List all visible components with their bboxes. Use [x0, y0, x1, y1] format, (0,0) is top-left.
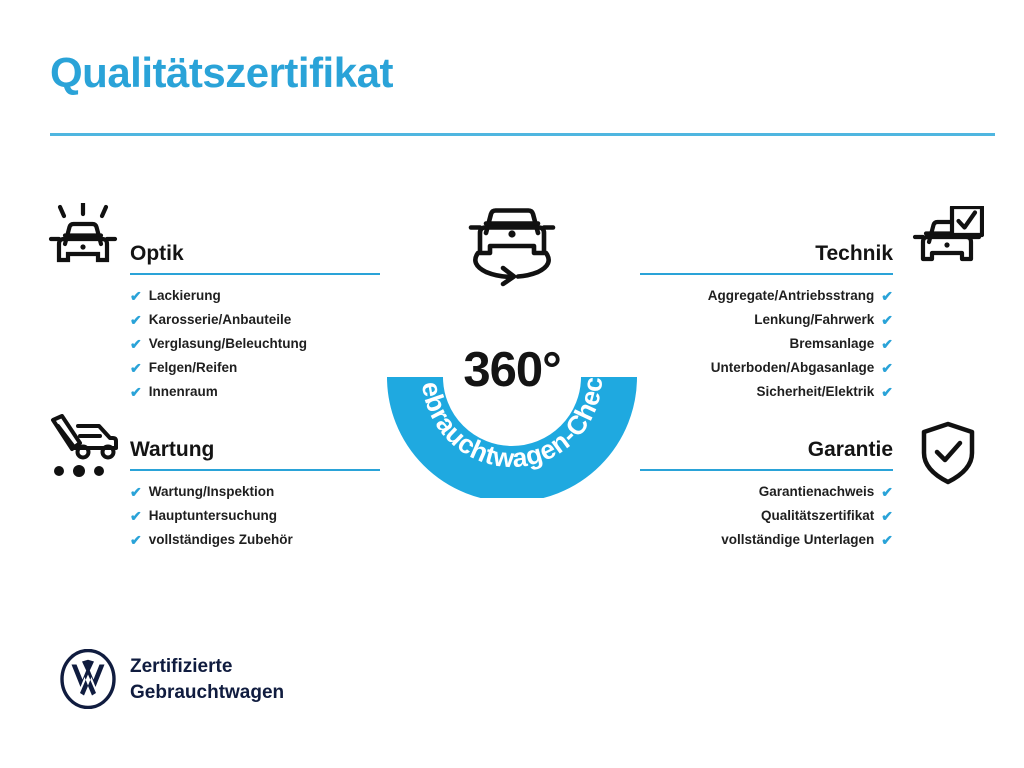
vw-logo-icon — [58, 649, 118, 709]
section-garantie: Garantie Garantienachweis✔Qualitätszerti… — [640, 439, 893, 557]
check-icon: ✔ — [130, 509, 142, 523]
checklist-item: Garantienachweis✔ — [640, 485, 893, 499]
section-wartung-list: ✔Wartung/Inspektion✔Hauptuntersuchung✔vo… — [130, 485, 380, 547]
section-wartung: Wartung ✔Wartung/Inspektion✔Hauptuntersu… — [130, 439, 380, 557]
check-icon: ✔ — [881, 509, 893, 523]
check-icon: ✔ — [881, 361, 893, 375]
checklist-item-label: Hauptuntersuchung — [149, 509, 277, 523]
section-optik-list: ✔Lackierung✔Karosserie/Anbauteile✔Vergla… — [130, 289, 380, 399]
checklist-item: Bremsanlage✔ — [640, 337, 893, 351]
check-icon: ✔ — [881, 337, 893, 351]
checklist-item-label: Qualitätszertifikat — [761, 509, 874, 523]
check-icon: ✔ — [130, 385, 142, 399]
check-icon: ✔ — [130, 313, 142, 327]
section-garantie-list: Garantienachweis✔Qualitätszertifikat✔vol… — [640, 485, 893, 547]
section-garantie-heading: Garantie — [640, 439, 893, 460]
badge-360-check: Gebrauchtwagen-Check 360° — [378, 198, 646, 498]
footer-logo-text: Zertifizierte Gebrauchtwagen — [130, 654, 284, 705]
section-wartung-rule — [130, 469, 380, 471]
checklist-item: Sicherheit/Elektrik✔ — [640, 385, 893, 399]
checklist-item-label: Lackierung — [149, 289, 221, 303]
checklist-item-label: Wartung/Inspektion — [149, 485, 275, 499]
checklist-item: vollständige Unterlagen✔ — [640, 533, 893, 547]
checklist-item: ✔Lackierung — [130, 289, 380, 303]
shield-check-icon — [920, 421, 976, 485]
section-technik-heading: Technik — [640, 243, 893, 264]
checklist-item-label: Innenraum — [149, 385, 218, 399]
checklist-item: ✔Wartung/Inspektion — [130, 485, 380, 499]
checklist-item-label: Karosserie/Anbauteile — [149, 313, 292, 327]
section-wartung-heading: Wartung — [130, 439, 380, 460]
section-technik-list: Aggregate/Antriebsstrang✔Lenkung/Fahrwer… — [640, 289, 893, 399]
checklist-item-label: Felgen/Reifen — [149, 361, 238, 375]
checklist-item-label: Garantienachweis — [759, 485, 875, 499]
check-icon: ✔ — [130, 533, 142, 547]
car-front-checkbox-icon — [912, 206, 984, 272]
checklist-item-label: Unterboden/Abgasanlage — [711, 361, 875, 375]
checklist-item-label: vollständiges Zubehör — [149, 533, 293, 547]
checklist-item: ✔vollständiges Zubehör — [130, 533, 380, 547]
checklist-item: Qualitätszertifikat✔ — [640, 509, 893, 523]
footer-line-1: Zertifizierte — [130, 654, 284, 680]
car-service-pen-icon — [47, 414, 119, 480]
section-technik: Technik Aggregate/Antriebsstrang✔Lenkung… — [640, 243, 893, 409]
page-title: Qualitätszertifikat — [50, 52, 393, 94]
check-icon: ✔ — [881, 385, 893, 399]
checklist-item: ✔Felgen/Reifen — [130, 361, 380, 375]
checklist-item-label: Verglasung/Beleuchtung — [149, 337, 307, 351]
footer-line-2: Gebrauchtwagen — [130, 680, 284, 706]
badge-center-label: 360° — [378, 346, 646, 395]
check-icon: ✔ — [130, 289, 142, 303]
section-optik-heading: Optik — [130, 243, 380, 264]
checklist-item: ✔Karosserie/Anbauteile — [130, 313, 380, 327]
check-icon: ✔ — [881, 533, 893, 547]
check-icon: ✔ — [130, 485, 142, 499]
checklist-item-label: Bremsanlage — [789, 337, 874, 351]
checklist-item-label: Lenkung/Fahrwerk — [754, 313, 874, 327]
section-optik-rule — [130, 273, 380, 275]
check-icon: ✔ — [881, 289, 893, 303]
checklist-item: Unterboden/Abgasanlage✔ — [640, 361, 893, 375]
check-icon: ✔ — [130, 361, 142, 375]
section-garantie-rule — [640, 469, 893, 471]
checklist-item: ✔Hauptuntersuchung — [130, 509, 380, 523]
car-front-shine-icon — [47, 203, 119, 273]
section-optik: Optik ✔Lackierung✔Karosserie/Anbauteile✔… — [130, 243, 380, 409]
section-technik-rule — [640, 273, 893, 275]
check-icon: ✔ — [881, 485, 893, 499]
checklist-item: ✔Innenraum — [130, 385, 380, 399]
checklist-item-label: Sicherheit/Elektrik — [756, 385, 874, 399]
check-icon: ✔ — [130, 337, 142, 351]
checklist-item: ✔Verglasung/Beleuchtung — [130, 337, 380, 351]
check-icon: ✔ — [881, 313, 893, 327]
checklist-item: Aggregate/Antriebsstrang✔ — [640, 289, 893, 303]
footer-logo: Zertifizierte Gebrauchtwagen — [58, 649, 318, 713]
checklist-item-label: vollständige Unterlagen — [721, 533, 874, 547]
checklist-item-label: Aggregate/Antriebsstrang — [708, 289, 875, 303]
checklist-item: Lenkung/Fahrwerk✔ — [640, 313, 893, 327]
title-divider — [50, 133, 995, 136]
